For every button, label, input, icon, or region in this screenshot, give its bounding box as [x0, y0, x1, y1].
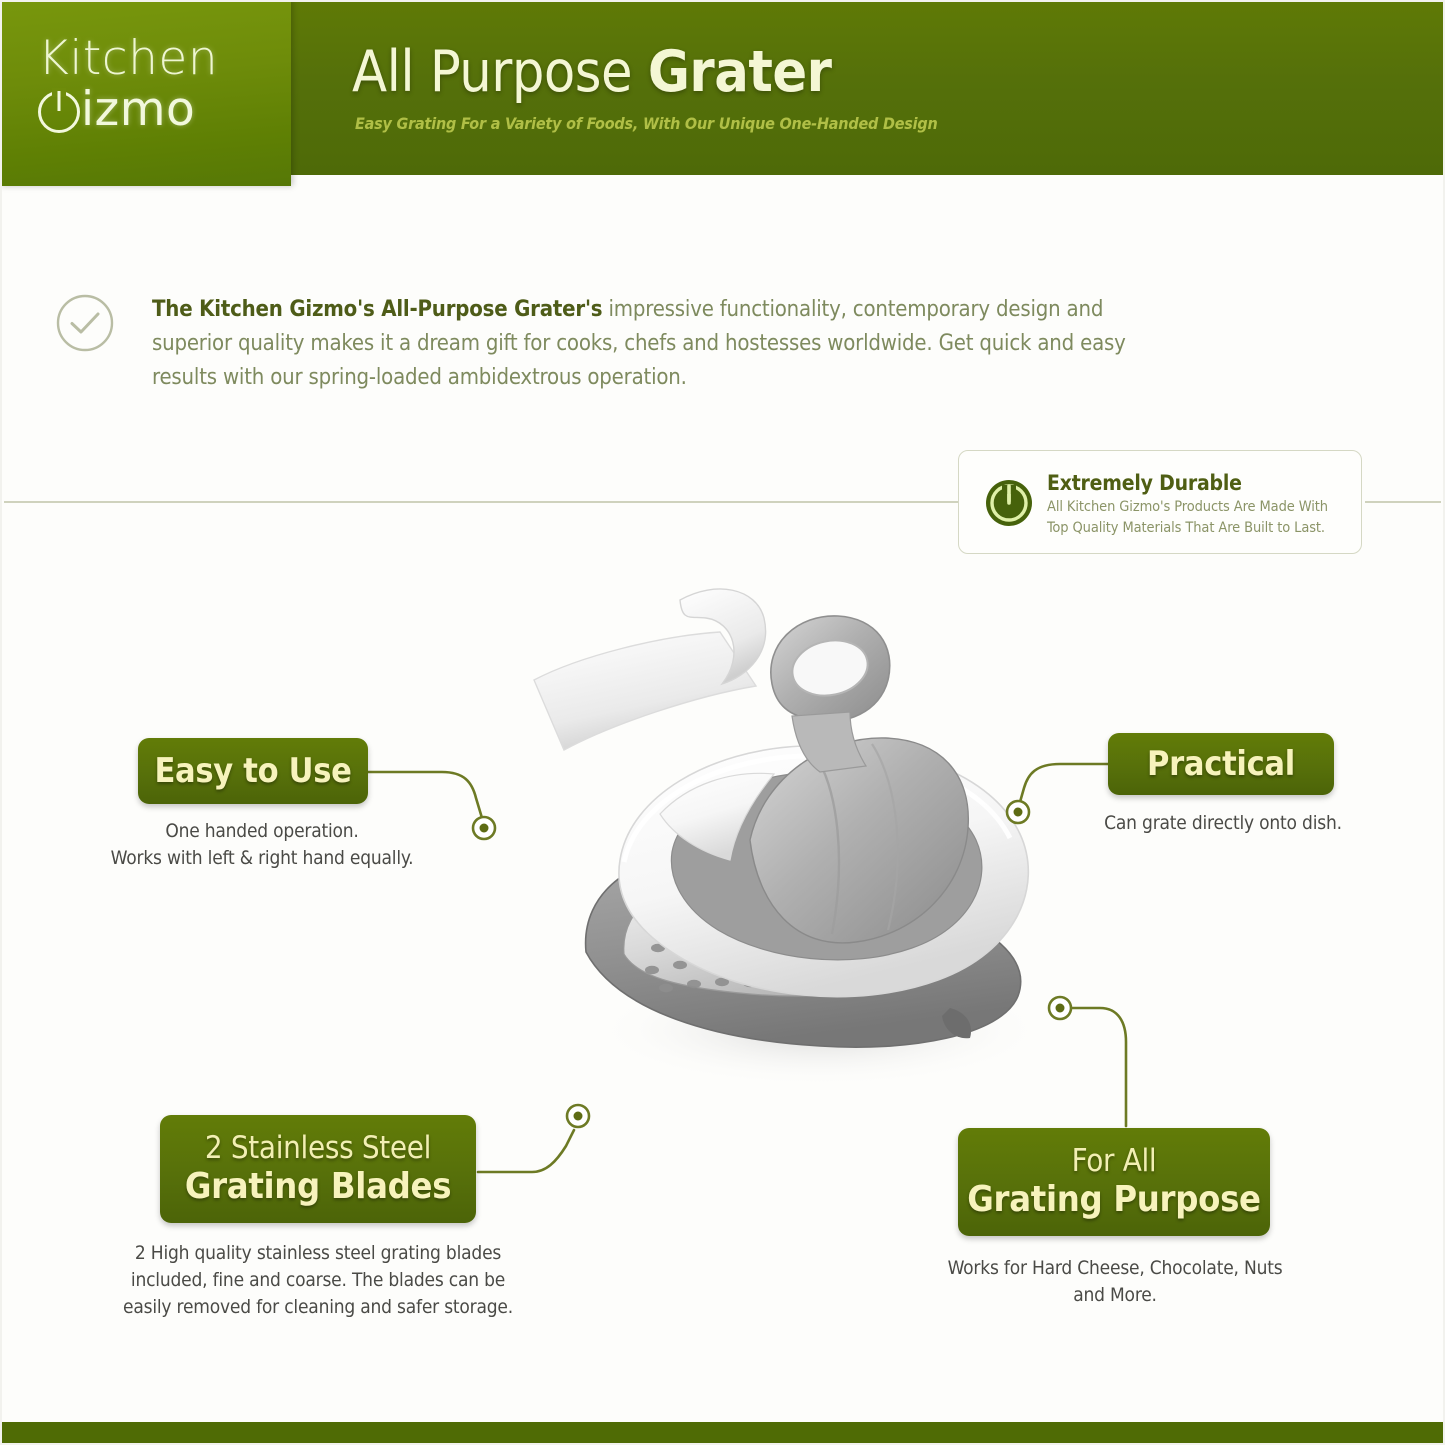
- callout-caption-grating-purpose: Works for Hard Cheese, Chocolate, Nuts a…: [930, 1255, 1300, 1309]
- callout-caption-grating-blades: 2 High quality stainless steel grating b…: [118, 1240, 518, 1321]
- callout-tag-easy-to-use: Easy to Use: [138, 738, 368, 804]
- callout-title-grating-purpose-line2: Grating Purpose: [967, 1179, 1260, 1221]
- callout-caption-easy-to-use: One handed operation. Works with left & …: [62, 818, 462, 872]
- all-purpose-grater-product-photo: [520, 560, 1100, 1120]
- durable-badge-description: All Kitchen Gizmo's Products Are Made Wi…: [1047, 497, 1347, 539]
- callout-caption-practical: Can grate directly onto dish.: [1068, 810, 1378, 837]
- brand-logo-line1: Kitchen: [38, 34, 258, 84]
- page-title-thin: All Purpose: [352, 39, 648, 105]
- intro-lead: The Kitchen Gizmo's All-Purpose Grater's: [152, 297, 602, 322]
- callout-title-practical: Practical: [1147, 744, 1295, 784]
- section-divider-left: [4, 501, 959, 503]
- callout-tag-practical: Practical: [1108, 733, 1334, 795]
- callout-tag-grating-blades: 2 Stainless Steel Grating Blades: [160, 1115, 476, 1223]
- durable-badge: Extremely Durable All Kitchen Gizmo's Pr…: [958, 450, 1362, 554]
- section-divider-right: [1365, 501, 1441, 503]
- power-icon: [38, 91, 80, 133]
- footer-bar: [0, 1422, 1445, 1445]
- callout-title-grating-blades-line1: 2 Stainless Steel: [205, 1130, 431, 1166]
- page-subtitle: Easy Grating For a Variety of Foods, Wit…: [355, 114, 938, 134]
- intro-paragraph: The Kitchen Gizmo's All-Purpose Grater's…: [152, 293, 1182, 395]
- durable-badge-title: Extremely Durable: [1047, 471, 1242, 495]
- brand-logo-block: Kitchen izmo: [0, 0, 291, 186]
- page-title-bold: Grater: [648, 39, 832, 105]
- power-circle-icon: [985, 479, 1033, 527]
- brand-logo: Kitchen izmo: [38, 34, 258, 136]
- callout-title-grating-purpose-line1: For All: [1072, 1143, 1157, 1179]
- page-title: All Purpose Grater: [352, 42, 831, 102]
- callout-title-grating-blades-line2: Grating Blades: [185, 1166, 451, 1208]
- infographic-page: All Purpose Grater Easy Grating For a Va…: [0, 0, 1445, 1445]
- callout-tag-grating-purpose: For All Grating Purpose: [958, 1128, 1270, 1236]
- callout-title-easy-to-use: Easy to Use: [154, 751, 351, 791]
- brand-logo-line2: izmo: [38, 84, 258, 136]
- brand-logo-line2-text: izmo: [81, 84, 195, 136]
- check-circle-icon: [55, 293, 115, 353]
